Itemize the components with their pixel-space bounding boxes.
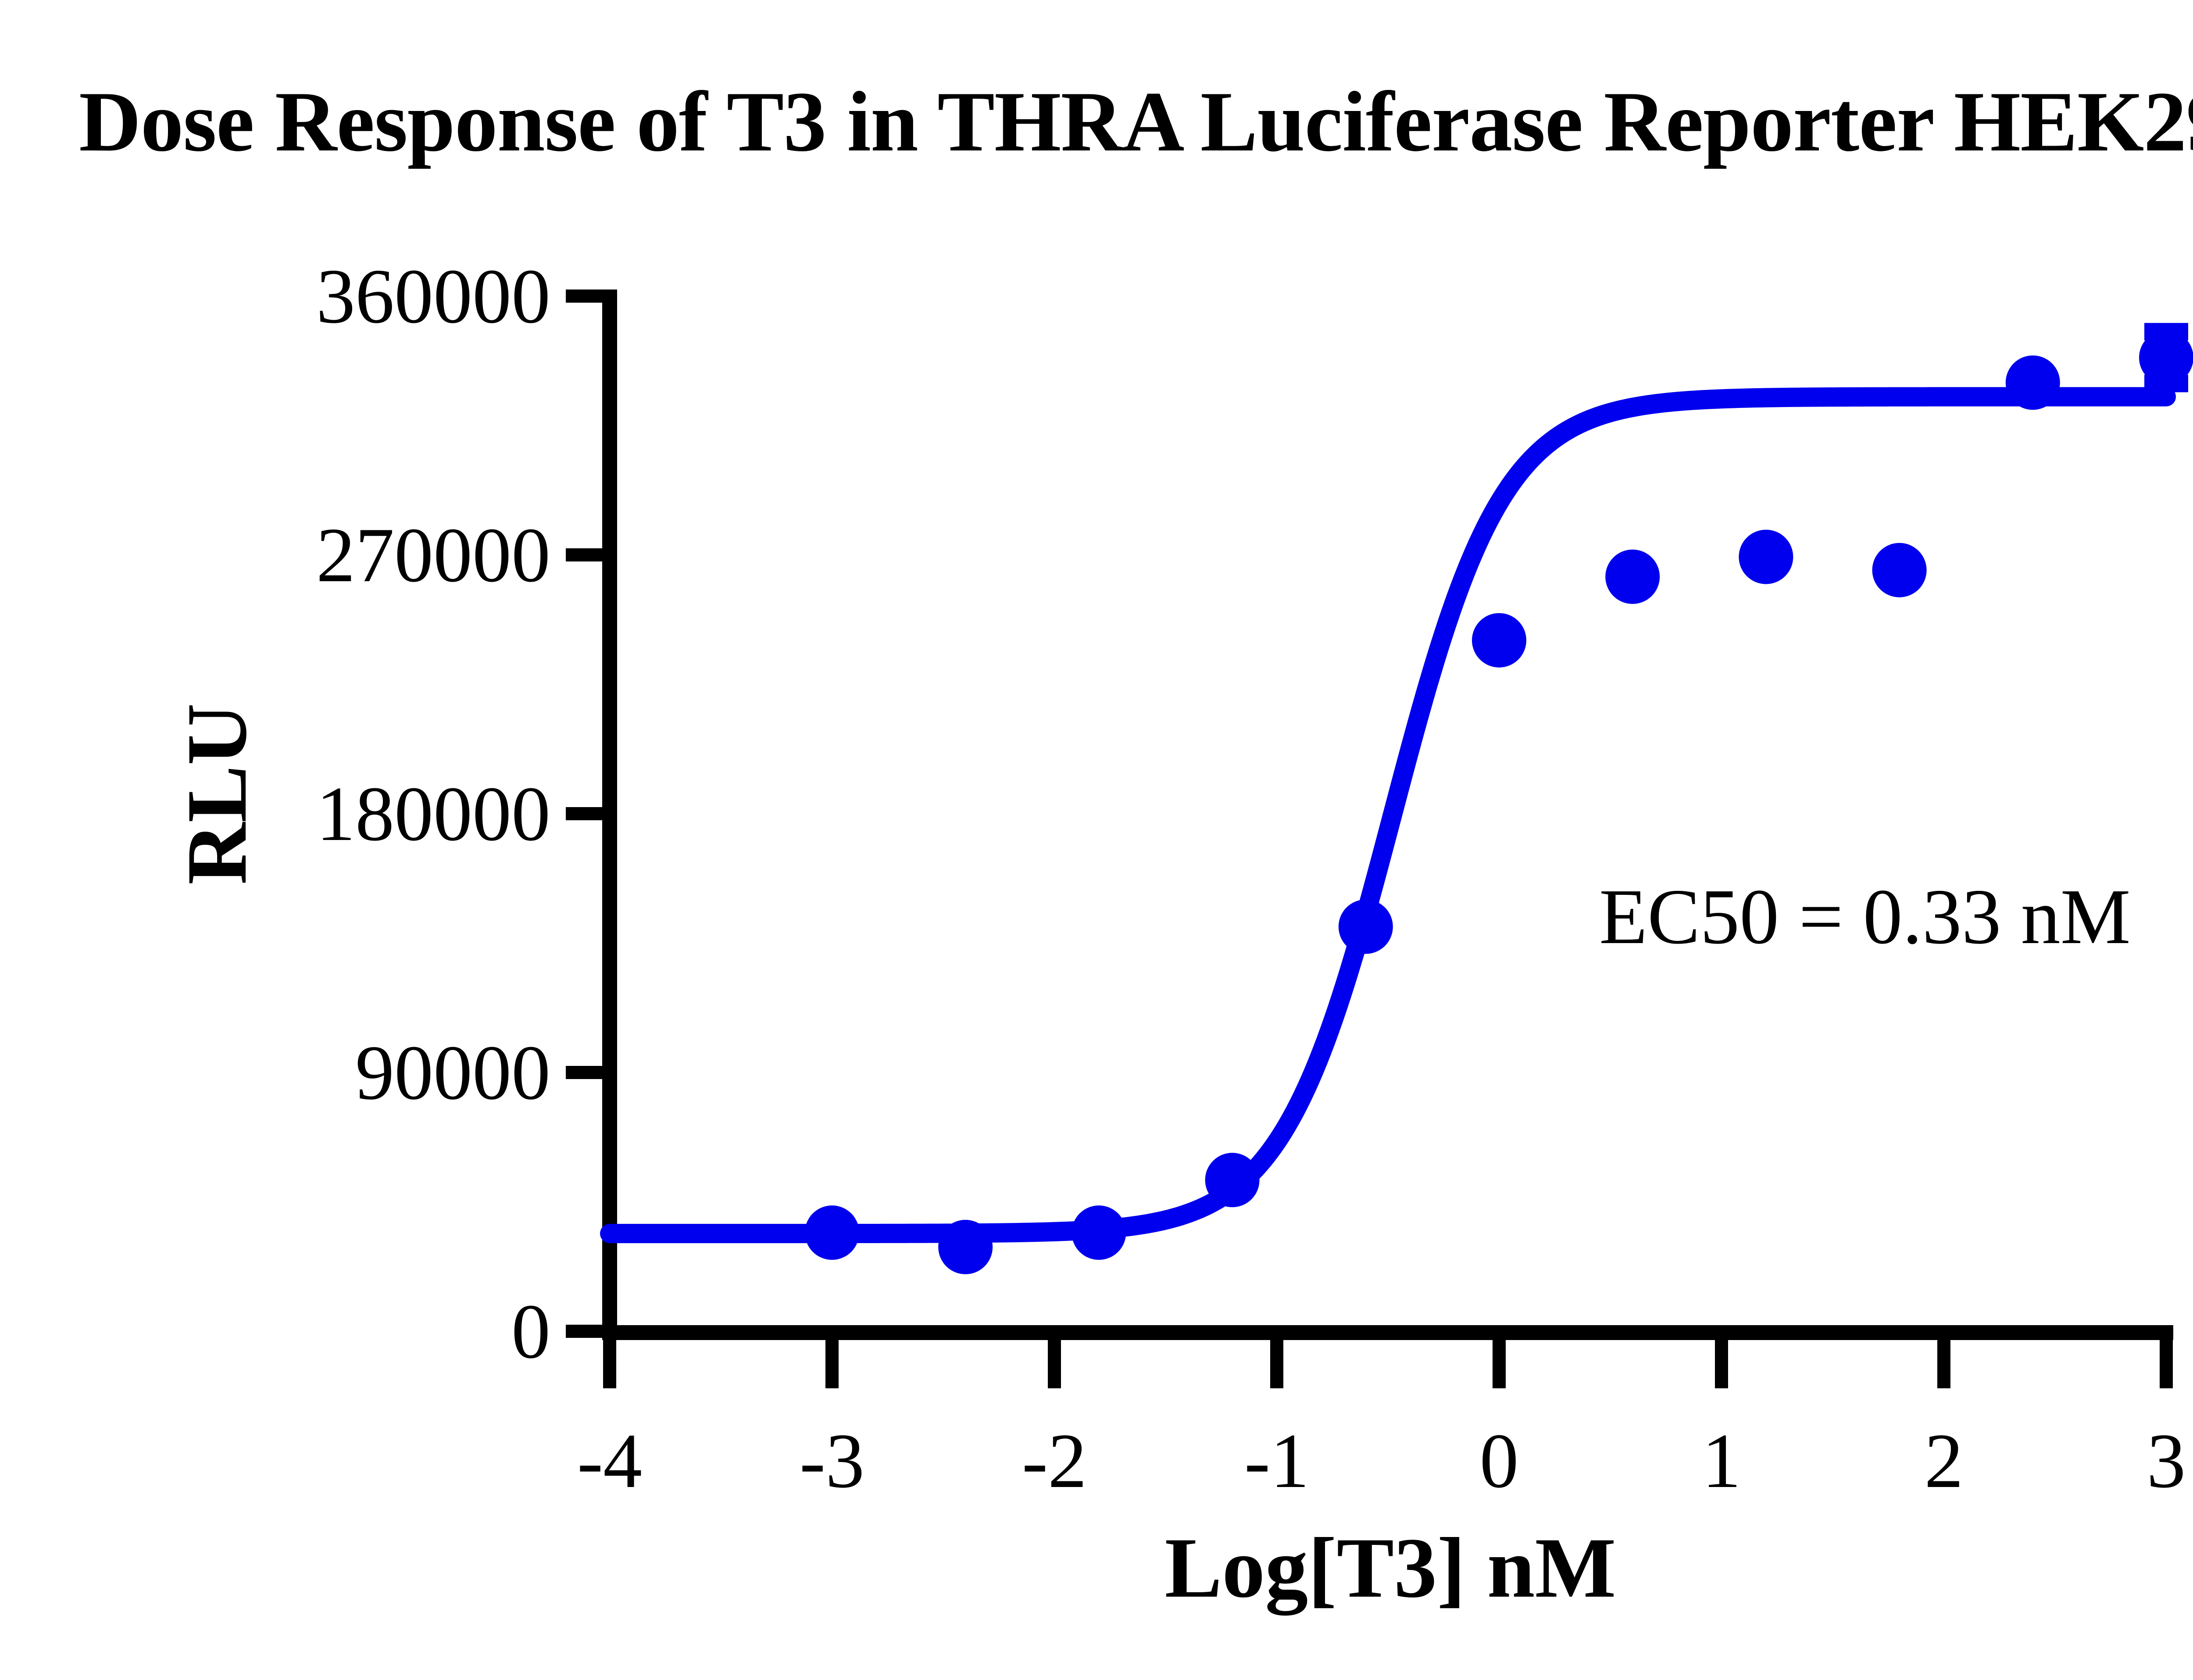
- x-tick-label-3: -1: [1244, 1417, 1309, 1504]
- ec50-annotation: EC50 = 0.33 nM: [1599, 873, 2131, 960]
- data-point-marker: [2139, 330, 2193, 385]
- data-point-marker: [805, 1205, 859, 1260]
- y-tick-label-4: 360000: [316, 253, 550, 340]
- y-tick-label-2: 180000: [316, 770, 550, 857]
- chart-plot-area: 360000 270000 180000 90000 0 -4 -3 -2 -1…: [0, 0, 2193, 1680]
- y-axis-title: RLU: [169, 703, 264, 885]
- data-point-marker: [1872, 543, 1927, 597]
- x-tick-labels-group: -4 -3 -2 -1 0 1 2 3: [577, 1417, 2186, 1504]
- fit-curve: [610, 397, 2166, 1233]
- x-tick-label-6: 2: [1925, 1417, 1964, 1504]
- data-point-marker: [1205, 1153, 1260, 1207]
- x-tick-label-4: 0: [1480, 1417, 1519, 1504]
- data-point-marker: [1605, 550, 1660, 604]
- x-tick-label-7: 3: [2147, 1417, 2186, 1504]
- y-tick-label-0: 0: [511, 1288, 550, 1375]
- figure-root: Dose Response of T3 in THRA Luciferase R…: [0, 0, 2193, 1680]
- data-points-group: [805, 330, 2193, 1274]
- data-point-marker: [1739, 530, 1793, 584]
- data-point-marker: [938, 1220, 993, 1274]
- x-tick-label-5: 1: [1702, 1417, 1741, 1504]
- x-tick-label-2: -2: [1022, 1417, 1087, 1504]
- y-tick-labels-group: 360000 270000 180000 90000 0: [316, 253, 550, 1375]
- x-tick-label-0: -4: [577, 1417, 642, 1504]
- data-point-marker: [1071, 1205, 1126, 1260]
- data-point-marker: [1472, 613, 1526, 668]
- y-tick-label-3: 270000: [316, 511, 550, 598]
- x-tick-label-1: -3: [800, 1417, 864, 1504]
- data-point-marker: [2006, 355, 2060, 410]
- y-tick-label-1: 90000: [355, 1029, 550, 1116]
- x-ticks-group: [610, 1340, 2166, 1388]
- x-axis-title: Log[T3] nM: [1165, 1520, 1616, 1616]
- data-point-marker: [1339, 900, 1393, 954]
